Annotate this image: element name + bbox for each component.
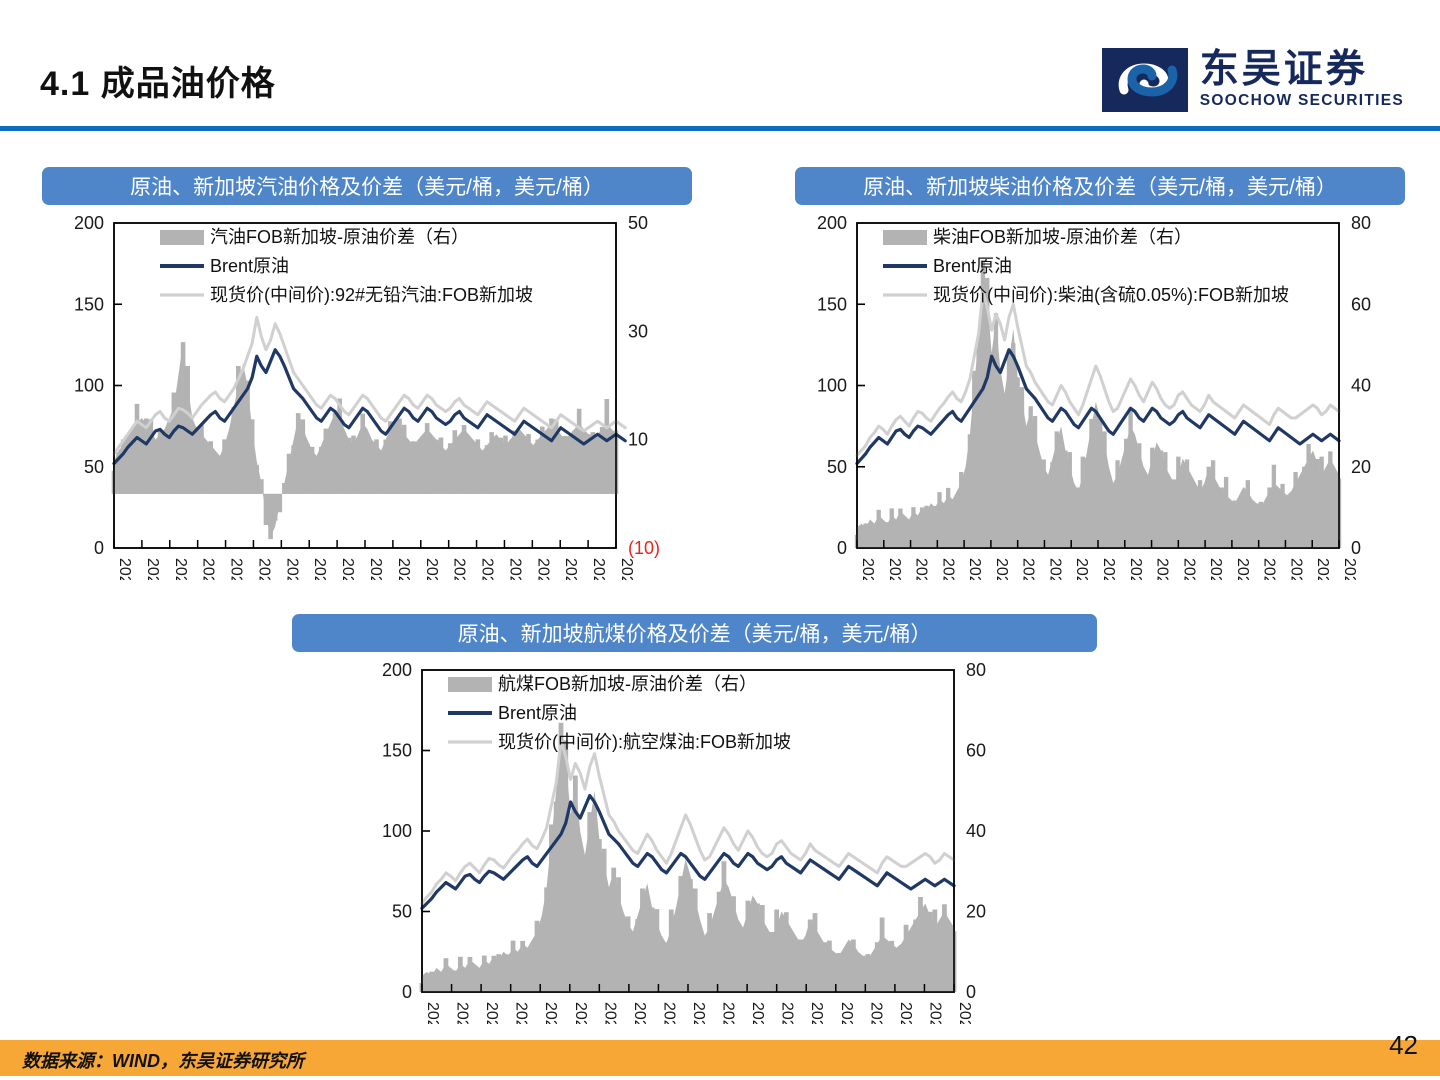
svg-text:2021-01: 2021-01: [859, 558, 876, 580]
svg-text:100: 100: [817, 376, 847, 396]
svg-text:150: 150: [382, 741, 412, 761]
svg-text:200: 200: [74, 213, 104, 233]
svg-text:2021-01: 2021-01: [424, 1002, 441, 1024]
svg-text:0: 0: [966, 982, 976, 1002]
chart-jetfuel: 050100150200020406080航煤FOB新加坡-原油价差（右）Bre…: [292, 652, 1097, 1024]
svg-text:2021-04: 2021-04: [886, 558, 903, 580]
svg-text:2023-01: 2023-01: [1073, 558, 1090, 580]
svg-text:60: 60: [966, 741, 986, 761]
svg-text:40: 40: [966, 821, 986, 841]
svg-text:汽油FOB新加坡-原油价差（右）: 汽油FOB新加坡-原油价差（右）: [210, 227, 469, 247]
svg-text:2024-01: 2024-01: [451, 558, 468, 580]
svg-text:60: 60: [1351, 294, 1371, 314]
svg-text:2024-01: 2024-01: [1180, 558, 1197, 580]
svg-text:Brent原油: Brent原油: [933, 256, 1012, 276]
svg-text:2024-10: 2024-10: [1261, 558, 1278, 580]
brand-logo: 东吴证券 SOOCHOW SECURITIES: [1102, 48, 1404, 112]
svg-text:2021-10: 2021-10: [513, 1002, 530, 1024]
svg-text:现货价(中间价):柴油(含硫0.05%):FOB新加坡: 现货价(中间价):柴油(含硫0.05%):FOB新加坡: [933, 285, 1289, 305]
svg-text:2021-01: 2021-01: [116, 558, 133, 580]
svg-text:2024-07: 2024-07: [1234, 558, 1251, 580]
svg-text:2025-01: 2025-01: [897, 1002, 914, 1024]
svg-text:2021-10: 2021-10: [939, 558, 956, 580]
legend-item: Brent原油: [160, 256, 289, 276]
svg-text:0: 0: [402, 982, 412, 1002]
svg-text:2023-04: 2023-04: [690, 1002, 707, 1024]
svg-text:10: 10: [628, 430, 648, 450]
legend-item: 柴油FOB新加坡-原油价差（右）: [883, 227, 1192, 247]
chart-panel-jetfuel: 原油、新加坡航煤价格及价差（美元/桶，美元/桶） 050100150200020…: [292, 614, 1097, 1024]
svg-text:150: 150: [74, 294, 104, 314]
legend-item: 汽油FOB新加坡-原油价差（右）: [160, 227, 469, 247]
svg-text:2025-07: 2025-07: [618, 558, 635, 580]
svg-text:40: 40: [1351, 376, 1371, 396]
soochow-logo-icon: [1102, 48, 1188, 112]
svg-text:2021-07: 2021-07: [172, 558, 189, 580]
legend-item: 现货价(中间价):柴油(含硫0.05%):FOB新加坡: [883, 285, 1289, 305]
svg-text:2022-10: 2022-10: [311, 558, 328, 580]
svg-text:50: 50: [827, 457, 847, 477]
svg-text:2023-10: 2023-10: [423, 558, 440, 580]
legend-item: 现货价(中间价):航空煤油:FOB新加坡: [448, 732, 791, 752]
svg-text:200: 200: [817, 213, 847, 233]
svg-text:2024-10: 2024-10: [534, 558, 551, 580]
svg-text:2023-01: 2023-01: [660, 1002, 677, 1024]
svg-text:2023-10: 2023-10: [1154, 558, 1171, 580]
svg-text:航煤FOB新加坡-原油价差（右）: 航煤FOB新加坡-原油价差（右）: [498, 674, 757, 694]
chart-gasoline: 050100150200(10)103050汽油FOB新加坡-原油价差（右）Br…: [42, 205, 692, 580]
svg-text:50: 50: [392, 902, 412, 922]
page-title: 4.1 成品油价格: [40, 56, 276, 105]
source-note: 数据来源：WIND，东吴证券研究所: [22, 1047, 304, 1073]
svg-text:2023-07: 2023-07: [395, 558, 412, 580]
svg-text:0: 0: [1351, 538, 1361, 558]
svg-text:2025-04: 2025-04: [590, 558, 607, 580]
svg-text:100: 100: [74, 376, 104, 396]
svg-text:200: 200: [382, 660, 412, 680]
svg-text:2025-04: 2025-04: [1314, 558, 1331, 580]
svg-text:(10): (10): [628, 538, 660, 558]
svg-text:2021-10: 2021-10: [200, 558, 217, 580]
svg-text:2022-10: 2022-10: [1046, 558, 1063, 580]
svg-text:2024-04: 2024-04: [1207, 558, 1224, 580]
svg-text:20: 20: [1351, 457, 1371, 477]
svg-text:Brent原油: Brent原油: [210, 256, 289, 276]
svg-text:2021-07: 2021-07: [913, 558, 930, 580]
svg-text:2022-07: 2022-07: [601, 1002, 618, 1024]
svg-text:2021-04: 2021-04: [454, 1002, 471, 1024]
brand-name-cn: 东吴证券: [1200, 50, 1404, 90]
svg-text:150: 150: [817, 294, 847, 314]
svg-text:2024-04: 2024-04: [808, 1002, 825, 1024]
svg-text:2023-07: 2023-07: [1127, 558, 1144, 580]
svg-text:100: 100: [382, 821, 412, 841]
svg-text:2022-04: 2022-04: [572, 1002, 589, 1024]
svg-text:2025-01: 2025-01: [562, 558, 579, 580]
svg-text:2025-04: 2025-04: [926, 1002, 943, 1024]
svg-text:2024-07: 2024-07: [506, 558, 523, 580]
brand-name-en: SOOCHOW SECURITIES: [1200, 92, 1404, 110]
svg-text:2022-04: 2022-04: [993, 558, 1010, 580]
svg-text:2023-04: 2023-04: [367, 558, 384, 580]
legend-item: Brent原油: [448, 703, 577, 723]
svg-text:80: 80: [1351, 213, 1371, 233]
title-divider: [0, 126, 1440, 131]
chart-panel-gasoline: 原油、新加坡汽油价格及价差（美元/桶，美元/桶） 050100150200(10…: [42, 167, 692, 580]
svg-text:现货价(中间价):航空煤油:FOB新加坡: 现货价(中间价):航空煤油:FOB新加坡: [498, 732, 791, 752]
page-number: 42: [1389, 1030, 1418, 1061]
legend-item: Brent原油: [883, 256, 1012, 276]
svg-text:2023-10: 2023-10: [749, 1002, 766, 1024]
svg-text:2025-07: 2025-07: [1341, 558, 1358, 580]
svg-text:柴油FOB新加坡-原油价差（右）: 柴油FOB新加坡-原油价差（右）: [933, 227, 1192, 247]
svg-text:2021-07: 2021-07: [483, 1002, 500, 1024]
chart-header-jetfuel: 原油、新加坡航煤价格及价差（美元/桶，美元/桶）: [292, 614, 1097, 652]
svg-text:2021-04: 2021-04: [144, 558, 161, 580]
svg-text:2025-01: 2025-01: [1287, 558, 1304, 580]
chart-diesel: 050100150200020406080柴油FOB新加坡-原油价差（右）Bre…: [795, 205, 1405, 580]
svg-text:2023-04: 2023-04: [1100, 558, 1117, 580]
logo-swoosh-icon: [1118, 54, 1178, 106]
svg-text:2022-07: 2022-07: [1020, 558, 1037, 580]
svg-text:0: 0: [837, 538, 847, 558]
legend-item: 航煤FOB新加坡-原油价差（右）: [448, 674, 757, 694]
svg-text:2022-07: 2022-07: [283, 558, 300, 580]
svg-text:2022-01: 2022-01: [228, 558, 245, 580]
svg-text:2022-04: 2022-04: [255, 558, 272, 580]
svg-text:50: 50: [84, 457, 104, 477]
svg-text:50: 50: [628, 213, 648, 233]
legend-item: 现货价(中间价):92#无铅汽油:FOB新加坡: [160, 285, 533, 305]
svg-text:2022-10: 2022-10: [631, 1002, 648, 1024]
svg-text:80: 80: [966, 660, 986, 680]
chart-panel-diesel: 原油、新加坡柴油价格及价差（美元/桶，美元/桶） 050100150200020…: [795, 167, 1405, 580]
svg-text:2025-07: 2025-07: [956, 1002, 973, 1024]
chart-header-diesel: 原油、新加坡柴油价格及价差（美元/桶，美元/桶）: [795, 167, 1405, 205]
svg-text:2024-01: 2024-01: [779, 1002, 796, 1024]
svg-text:2024-07: 2024-07: [838, 1002, 855, 1024]
svg-text:2022-01: 2022-01: [966, 558, 983, 580]
svg-text:Brent原油: Brent原油: [498, 703, 577, 723]
svg-text:现货价(中间价):92#无铅汽油:FOB新加坡: 现货价(中间价):92#无铅汽油:FOB新加坡: [210, 285, 533, 305]
svg-text:30: 30: [628, 321, 648, 341]
svg-text:0: 0: [94, 538, 104, 558]
svg-text:2024-10: 2024-10: [867, 1002, 884, 1024]
svg-text:2022-01: 2022-01: [542, 1002, 559, 1024]
svg-text:20: 20: [966, 902, 986, 922]
chart-header-gasoline: 原油、新加坡汽油价格及价差（美元/桶，美元/桶）: [42, 167, 692, 205]
svg-text:2023-01: 2023-01: [339, 558, 356, 580]
svg-text:2023-07: 2023-07: [720, 1002, 737, 1024]
svg-text:2024-04: 2024-04: [479, 558, 496, 580]
